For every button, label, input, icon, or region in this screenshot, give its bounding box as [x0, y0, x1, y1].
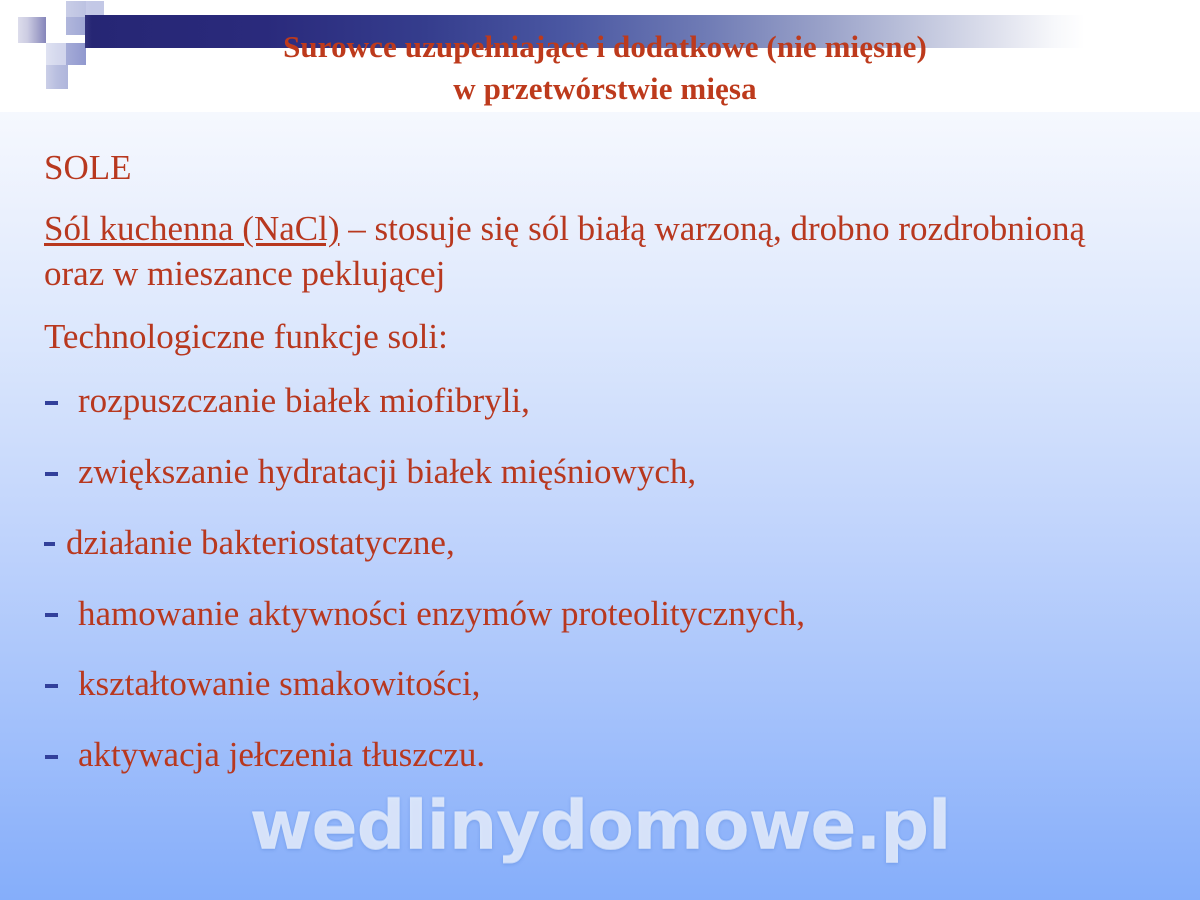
definition-term: Sól kuchenna (NaCl): [44, 209, 339, 248]
presentation-slide: Surowce uzupełniające i dodatkowe (nie m…: [0, 0, 1200, 900]
deco-square-light-d: [86, 1, 104, 15]
list-item: kształtowanie smakowitości,: [44, 662, 1104, 707]
list-item: działanie bakteriostatyczne,: [44, 521, 1104, 566]
section-heading: SOLE: [44, 146, 1104, 191]
list-item-label: rozpuszczanie białek miofibryli,: [78, 381, 530, 420]
dash-bullet-icon: [44, 542, 55, 546]
list-item: aktywacja jełczenia tłuszczu.: [44, 733, 1104, 778]
dash-bullet-icon: [45, 613, 58, 617]
list-item-label: aktywacja jełczenia tłuszczu.: [78, 735, 485, 774]
list-item-label: hamowanie aktywności enzymów proteolityc…: [78, 594, 805, 633]
dash-bullet-icon: [45, 684, 58, 688]
slide-body: SOLE Sól kuchenna (NaCl) – stosuje się s…: [44, 146, 1104, 804]
dash-bullet-icon: [45, 401, 58, 405]
list-item: rozpuszczanie białek miofibryli,: [44, 379, 1104, 424]
list-item-label: działanie bakteriostatyczne,: [66, 523, 455, 562]
dash-bullet-icon: [45, 472, 58, 476]
definition-paragraph: Sól kuchenna (NaCl) – stosuje się sól bi…: [44, 207, 1104, 297]
slide-title: Surowce uzupełniające i dodatkowe (nie m…: [140, 26, 1070, 110]
list-item-label: kształtowanie smakowitości,: [78, 664, 480, 703]
deco-square-mid-b: [46, 65, 68, 89]
dash-bullet-icon: [45, 755, 58, 759]
deco-square-light-b: [66, 17, 86, 35]
slide-title-line-2: w przetwórstwie mięsa: [140, 68, 1070, 110]
deco-square-light-a: [66, 1, 86, 17]
list-item: hamowanie aktywności enzymów proteolityc…: [44, 592, 1104, 637]
functions-list: rozpuszczanie białek miofibryli, zwiększ…: [44, 379, 1104, 778]
deco-square-dark: [18, 17, 46, 43]
list-item: zwiększanie hydratacji białek mięśniowyc…: [44, 450, 1104, 495]
deco-square-mid-a: [66, 43, 86, 65]
slide-title-line-1: Surowce uzupełniające i dodatkowe (nie m…: [140, 26, 1070, 68]
deco-square-light-c: [46, 43, 66, 65]
header-left-fade: [0, 0, 92, 110]
functions-label: Technologiczne funkcje soli:: [44, 315, 1104, 360]
list-item-label: zwiększanie hydratacji białek mięśniowyc…: [78, 452, 696, 491]
